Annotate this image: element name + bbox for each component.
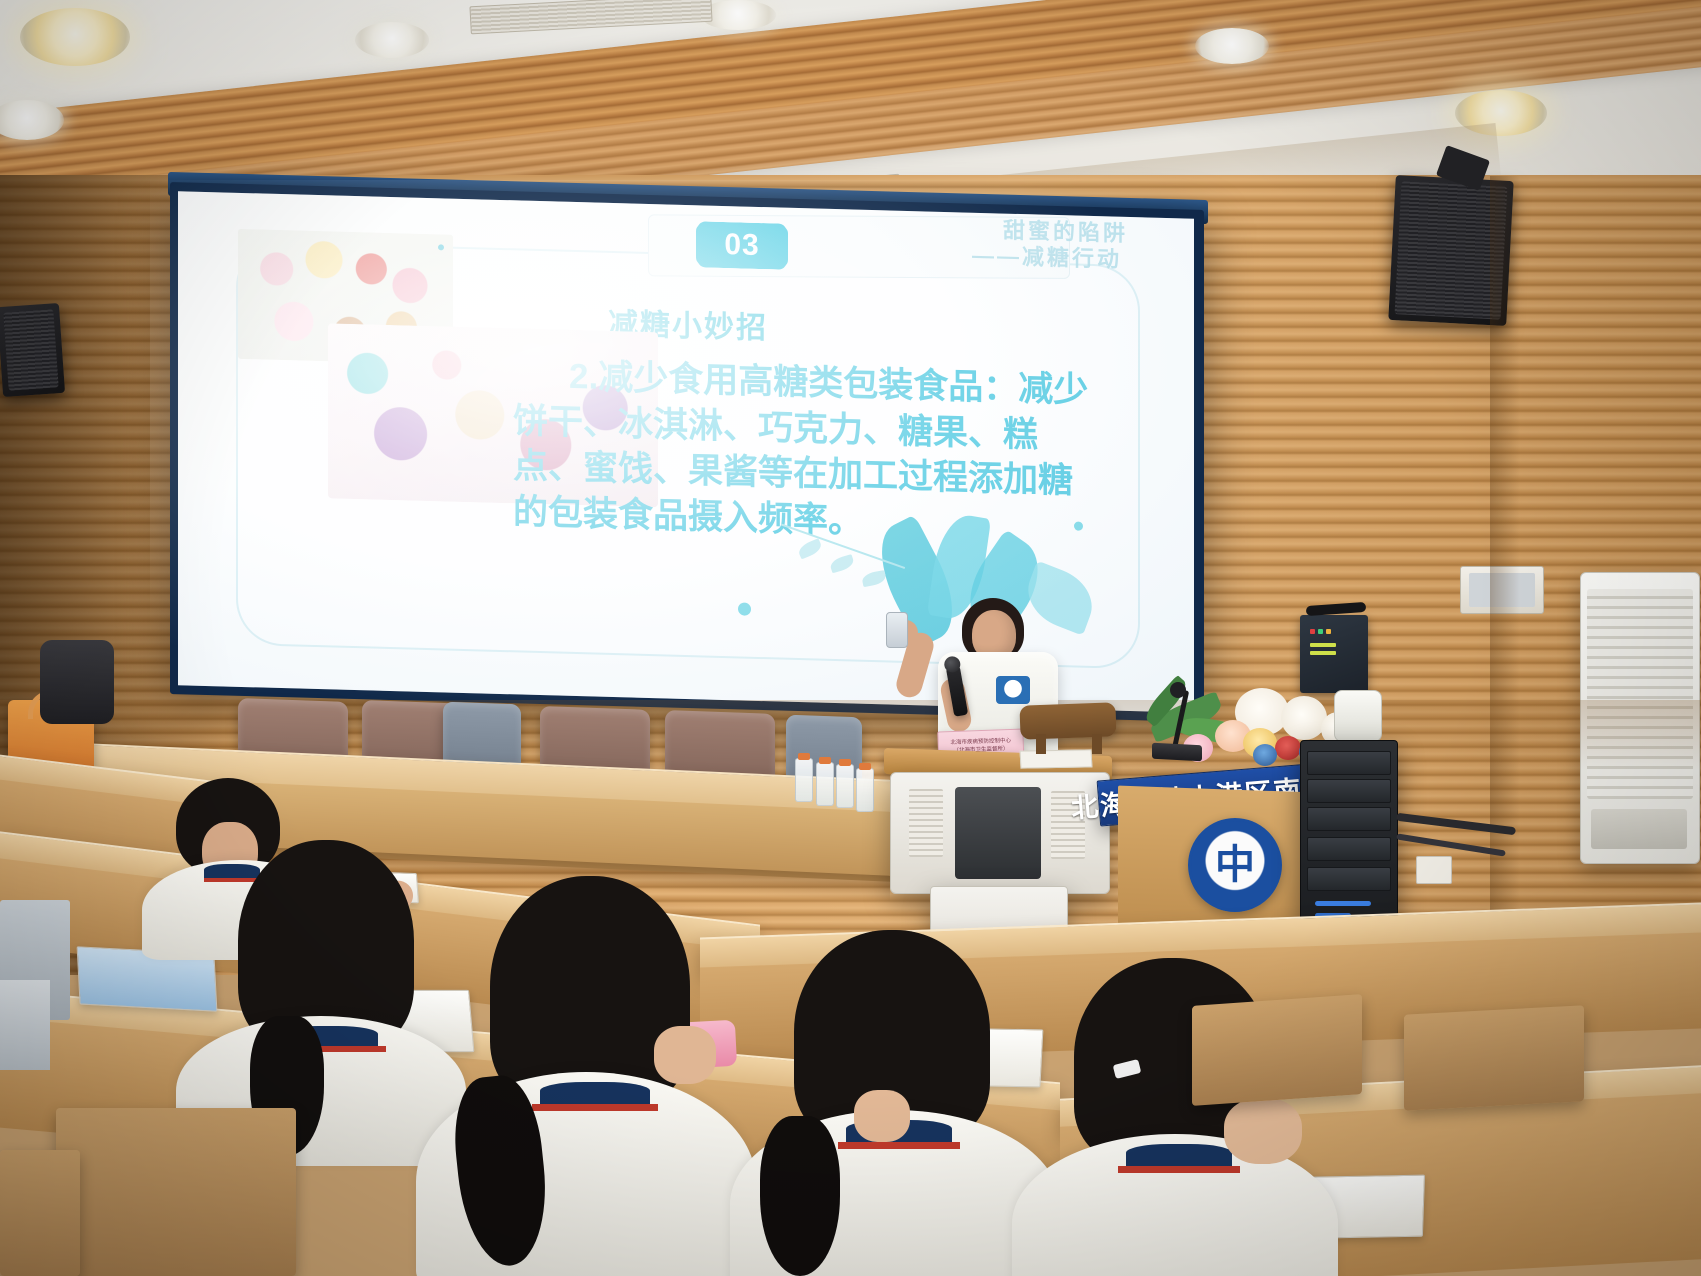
- side-wall-panel: [0, 980, 50, 1070]
- status-led-amber: [1326, 629, 1331, 634]
- slide-section-badge: 03: [696, 221, 788, 269]
- school-crest-glyph: 中: [1215, 845, 1255, 885]
- lecture-hall-photo: 甜蜜的陷阱 ——减糖行动 03 减糖小妙招 2.减少食用高糖类包装食品：减少饼干…: [0, 0, 1701, 1276]
- status-led-row: [1310, 643, 1336, 647]
- water-bottle[interactable]: [816, 762, 834, 806]
- rack-unit[interactable]: [1307, 751, 1391, 775]
- branch-leaf: [861, 570, 887, 587]
- rack-led-indicator: [1315, 901, 1371, 906]
- wooden-table-leg: [1092, 734, 1102, 754]
- student-collar: [540, 1082, 650, 1104]
- presenter-held-object: [886, 612, 908, 648]
- water-bottle[interactable]: [856, 768, 874, 812]
- rack-unit[interactable]: [1307, 779, 1391, 803]
- student-ponytail: [760, 1116, 840, 1276]
- wall-outlet[interactable]: [1416, 856, 1452, 884]
- water-dispenser: [1334, 690, 1382, 742]
- flower-red: [1275, 736, 1301, 760]
- seat-back: [0, 1150, 80, 1276]
- bottle-cap: [798, 753, 810, 760]
- student: [210, 840, 460, 1140]
- student-hand: [654, 1026, 716, 1084]
- student-hand: [1224, 1098, 1302, 1164]
- seat-back: [56, 1108, 296, 1276]
- wooden-table-leg: [1036, 734, 1046, 754]
- wall-speaker-left: [0, 303, 65, 397]
- student: [432, 876, 732, 1276]
- status-led-green: [1318, 629, 1323, 634]
- lectern-vent-left: [909, 789, 943, 857]
- mic-base: [1152, 743, 1202, 762]
- student-collar-stripe: [532, 1104, 658, 1111]
- decorative-dot: [1074, 521, 1083, 530]
- flower-blue: [1253, 744, 1277, 766]
- seat-back: [1404, 1005, 1584, 1110]
- lectern-paper: [1020, 749, 1093, 768]
- flower-white: [1281, 696, 1327, 740]
- rack-unit[interactable]: [1307, 867, 1391, 891]
- school-crest-emblem: 中: [1188, 818, 1282, 912]
- slide-header-title: 甜蜜的陷阱 ——减糖行动: [808, 212, 1128, 273]
- speaker-grill: [3, 309, 58, 390]
- ceiling-downlight: [355, 22, 429, 58]
- bottle-cap: [819, 757, 831, 764]
- water-bottle[interactable]: [795, 758, 813, 802]
- seat-back: [1192, 994, 1362, 1106]
- bottle-cap: [839, 759, 851, 766]
- student-hand: [854, 1090, 910, 1142]
- rack-unit[interactable]: [1307, 807, 1391, 831]
- student-collar-stripe: [1118, 1166, 1240, 1173]
- presenter-polo-logo: [996, 676, 1030, 704]
- ceiling-downlight: [1195, 28, 1269, 64]
- bottle-cap: [859, 763, 871, 770]
- water-bottle[interactable]: [836, 764, 854, 808]
- microphone-capsule: [1170, 682, 1186, 698]
- branch-leaf: [829, 554, 856, 573]
- branch-leaf: [796, 538, 823, 559]
- status-led-red: [1310, 629, 1315, 634]
- ceiling-downlight: [20, 8, 130, 66]
- wall-control-box[interactable]: [1300, 615, 1368, 693]
- ac-control-panel[interactable]: [1591, 809, 1687, 849]
- student-collar: [1126, 1144, 1232, 1166]
- lectern-panel[interactable]: [955, 787, 1041, 879]
- status-led-row: [1310, 651, 1336, 655]
- backpack[interactable]: [40, 640, 114, 724]
- student: [742, 930, 1042, 1276]
- rack-unit[interactable]: [1307, 837, 1391, 861]
- student-collar-stripe: [838, 1142, 960, 1149]
- decorative-dot: [738, 602, 751, 615]
- decorative-dot: [438, 244, 444, 250]
- wall-corner-right: [1490, 176, 1520, 976]
